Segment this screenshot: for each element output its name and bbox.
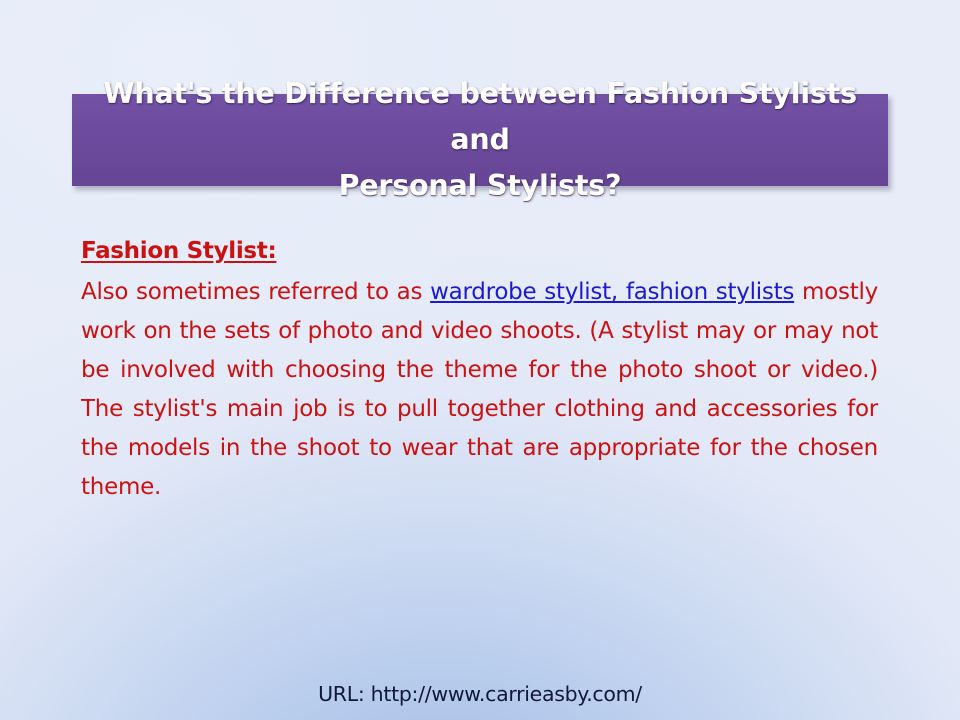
slide-title-banner: What's the Difference between Fashion St… [72, 94, 888, 186]
wardrobe-stylist-link[interactable]: wardrobe stylist, fashion stylists [430, 279, 794, 305]
body-paragraph: Also sometimes referred to as wardrobe s… [81, 273, 878, 546]
slide-title-text: What's the Difference between Fashion St… [96, 71, 863, 209]
section-heading-fashion-stylist: Fashion Stylist: [81, 238, 276, 264]
footer-url-text: URL: http://www.carrieasby.com/ [0, 682, 960, 706]
presentation-slide: What's the Difference between Fashion St… [0, 0, 960, 720]
slide-body-block: Fashion Stylist: Also sometimes referred… [81, 238, 878, 546]
paragraph-text-before-link: Also sometimes referred to as [81, 279, 430, 305]
paragraph-text-after-link: mostly work on the sets of photo and vid… [81, 279, 878, 500]
